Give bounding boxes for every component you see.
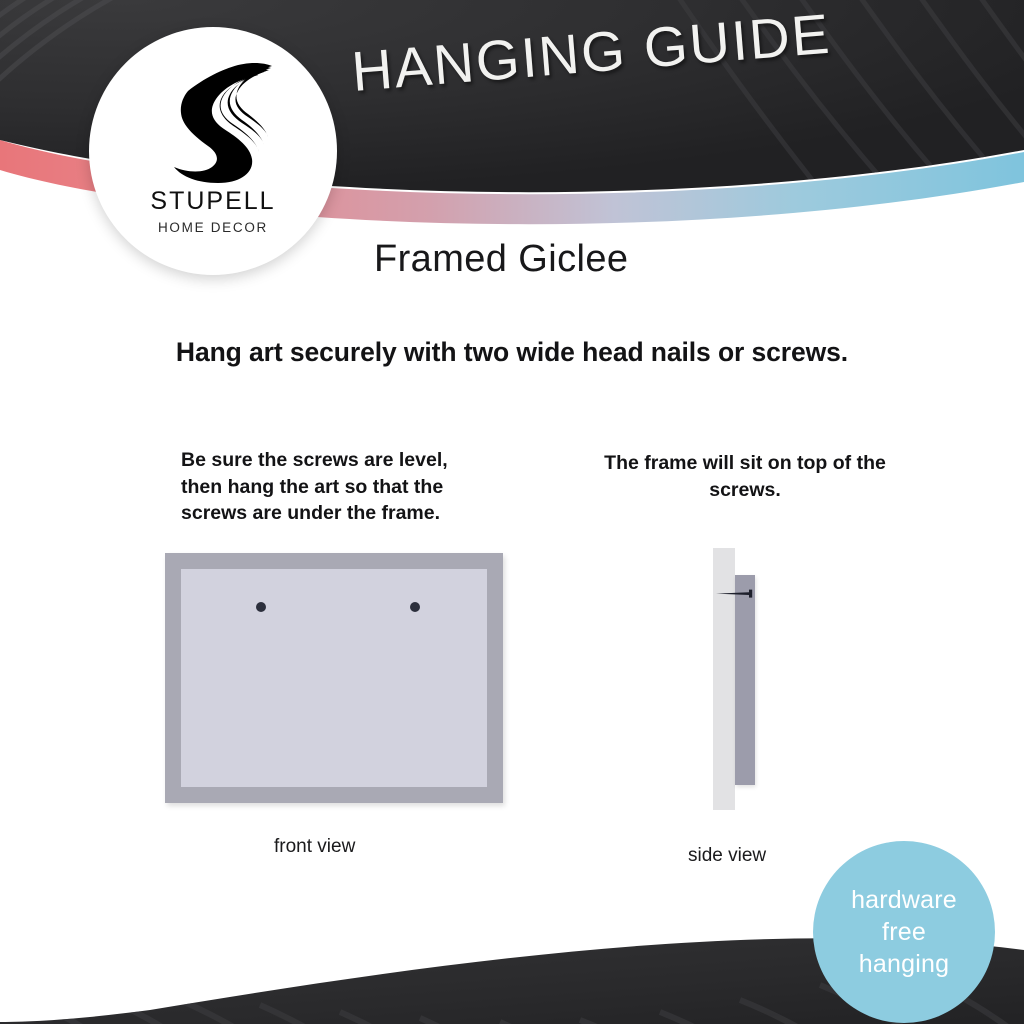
badge-line-1: hardware [851, 884, 957, 916]
side-view-wall [713, 548, 735, 810]
stupell-s-swoosh-icon [154, 53, 272, 185]
product-type-label: Framed Giclee [374, 238, 628, 282]
badge-line-2: free [882, 916, 926, 948]
side-view-label: side view [688, 845, 766, 867]
page-title: HANGING GUIDE [350, 0, 913, 100]
side-view-diagram [705, 548, 775, 810]
front-view-label: front view [274, 836, 355, 858]
screw-dot-icon [256, 602, 266, 612]
badge-line-3: hanging [859, 948, 949, 980]
screw-dot-icon [410, 602, 420, 612]
page-title-text: HANGING GUIDE [350, 0, 913, 100]
front-view-caption: Be sure the screws are level, then hang … [181, 447, 481, 527]
brand-logo-badge: STUPELL HOME DECOR [89, 27, 337, 275]
side-view-caption: The frame will sit on top of the screws. [600, 450, 890, 503]
hanging-guide-page: STUPELL HOME DECOR HANGING GUIDE Framed … [0, 0, 1024, 1024]
nail-icon [716, 589, 759, 598]
brand-name: STUPELL [150, 189, 275, 214]
front-view-diagram [165, 553, 503, 803]
main-instruction-text: Hang art securely with two wide head nai… [0, 337, 1024, 368]
hardware-free-hanging-badge: hardware free hanging [813, 841, 995, 1023]
brand-tagline: HOME DECOR [158, 221, 268, 235]
side-view-frame [735, 575, 755, 785]
front-view-mat [181, 569, 487, 787]
